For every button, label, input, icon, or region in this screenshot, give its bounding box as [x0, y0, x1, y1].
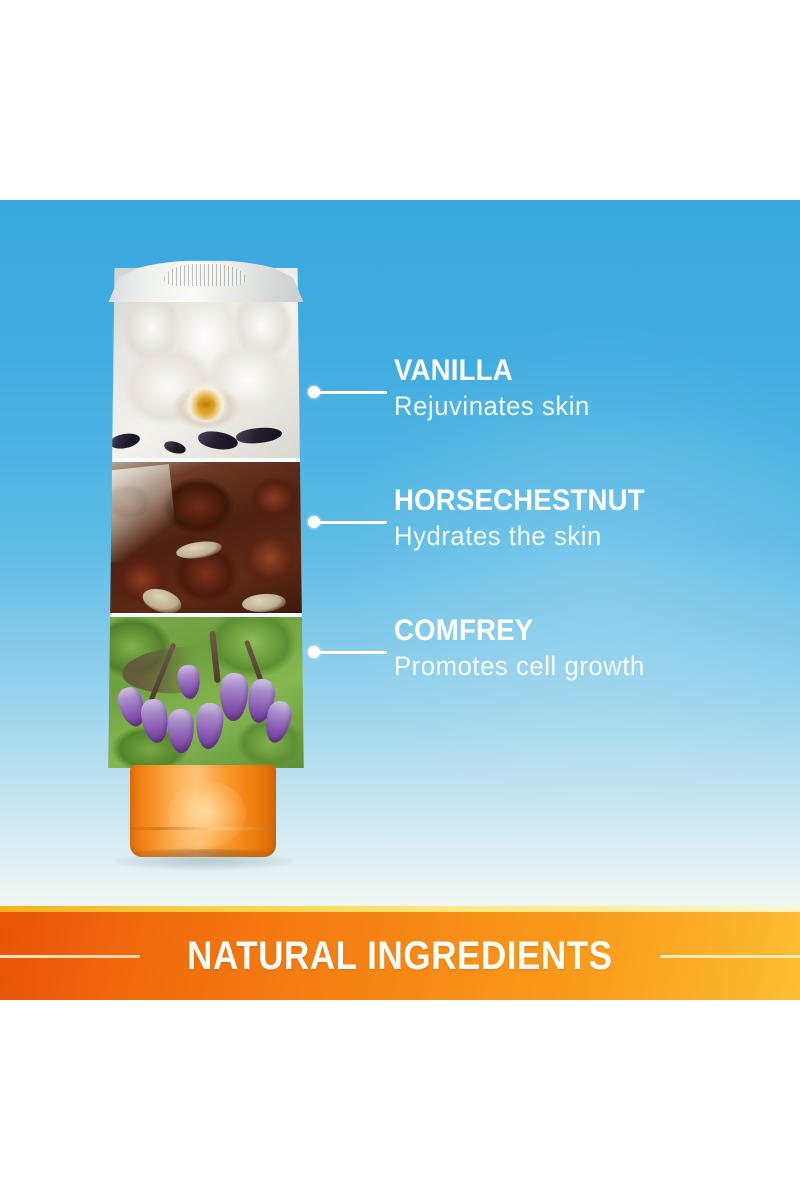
tube-crimp-seal: [164, 264, 246, 286]
callout-subtitle: Hydrates the skin: [394, 520, 774, 552]
chestnut-patch: [175, 539, 223, 561]
cap-seam: [130, 827, 276, 830]
tube-panel-horsechestnut: [102, 458, 310, 617]
chestnut-highlight: [102, 464, 179, 564]
vanilla-bean-icon: [235, 426, 282, 446]
callout-leader-line: [319, 521, 387, 524]
callout-subtitle: Promotes cell growth: [394, 650, 774, 682]
comfrey-flower: [139, 697, 171, 744]
vanilla-bean-icon: [197, 429, 239, 451]
comfrey-flower: [176, 664, 201, 700]
callout-text-horsechestnut: HORSECHESTNUT Hydrates the skin: [394, 484, 794, 552]
tube-shoulder: [100, 260, 312, 302]
callout-title: VANILLA: [394, 354, 762, 388]
callout-title: HORSECHESTNUT: [394, 484, 762, 518]
chestnut-patch: [241, 592, 286, 613]
vanilla-bean-icon: [109, 431, 141, 451]
banner-title: NATURAL INGREDIENTS: [187, 934, 613, 978]
callout-leader-line: [319, 391, 387, 394]
comfrey-flower: [219, 673, 249, 722]
tube-panel-comfrey: [102, 613, 310, 768]
orchid-center-icon: [188, 386, 224, 420]
tube-contact-shadow: [114, 852, 294, 870]
bottom-white-margin: [0, 1000, 800, 1200]
banner-rule-left: [0, 955, 140, 958]
tube-cap[interactable]: [130, 765, 276, 857]
cap-highlight: [168, 781, 246, 847]
callout-text-comfrey: COMFREY Promotes cell growth: [394, 614, 794, 682]
natural-ingredients-banner: NATURAL INGREDIENTS: [0, 906, 800, 1000]
comfrey-flower: [167, 709, 195, 754]
product-infographic: VANILLA Rejuvinates skin HORSECHESTNUT H…: [0, 0, 800, 1200]
vanilla-bean-icon: [163, 440, 187, 456]
callout-title: COMFREY: [394, 614, 762, 648]
banner-content: NATURAL INGREDIENTS: [0, 912, 800, 1000]
top-white-margin: [0, 0, 800, 200]
banner-rule-right: [660, 955, 800, 958]
product-tube[interactable]: [100, 260, 315, 865]
callout-text-vanilla: VANILLA Rejuvinates skin: [394, 354, 794, 422]
hero-stage: VANILLA Rejuvinates skin HORSECHESTNUT H…: [0, 200, 800, 906]
callout-leader-line: [319, 651, 387, 654]
callout-subtitle: Rejuvinates skin: [394, 390, 774, 422]
comfrey-flower: [194, 702, 224, 750]
tube-body: [102, 268, 310, 768]
